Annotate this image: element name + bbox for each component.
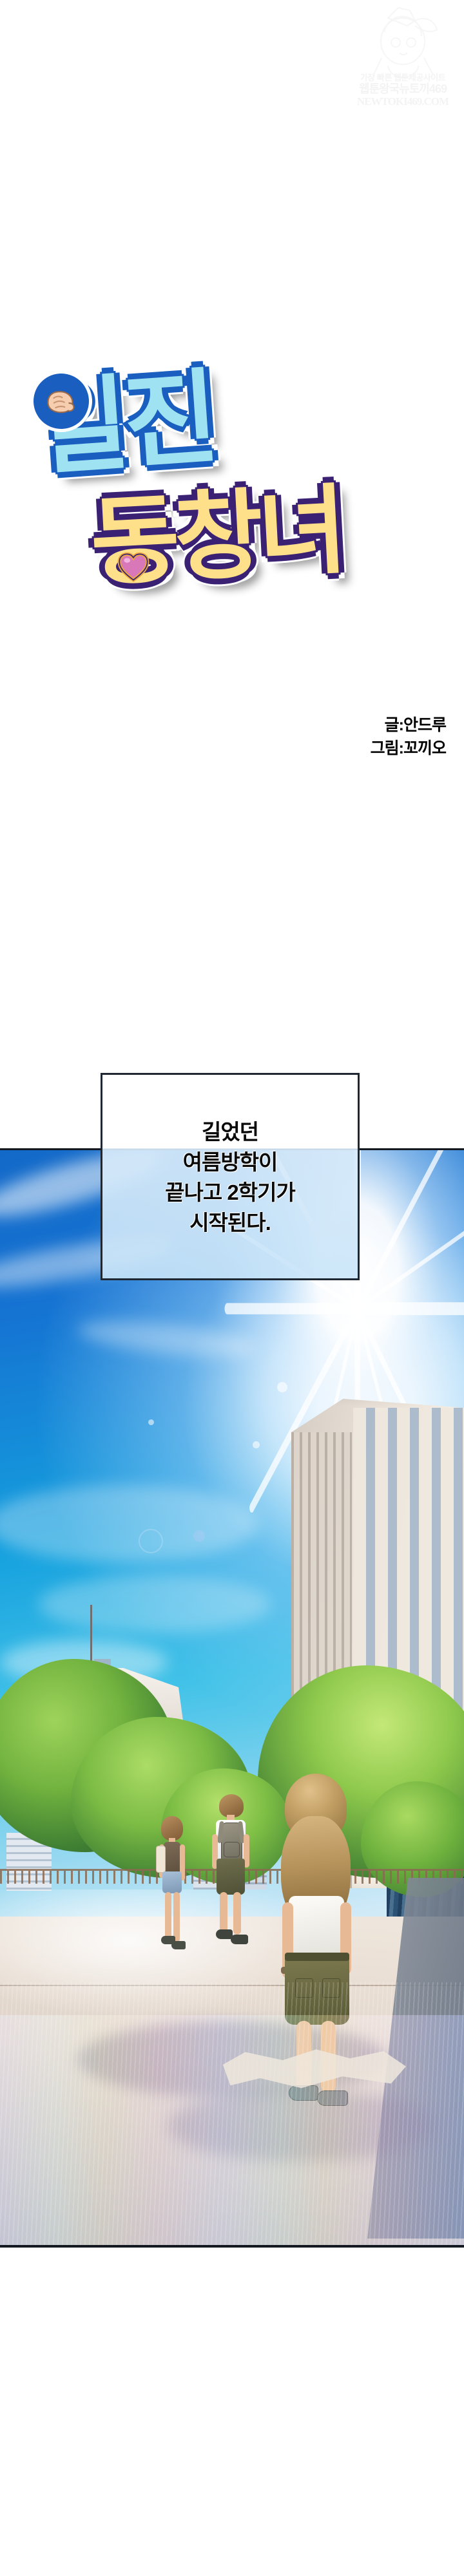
heart-icon — [115, 549, 152, 586]
tank-top — [164, 1842, 180, 1874]
caption-text: 길었던 여름방학이 끝나고 2학기가 시작된다. — [102, 1117, 358, 1238]
watermark-line-1: 가장 빠른 웹툰제공사이트 — [348, 73, 458, 82]
shoe-left — [216, 1929, 233, 1939]
watermark-line-2: 웹툰왕국뉴토끼469 — [348, 83, 458, 95]
hair — [219, 1794, 244, 1817]
white-top — [289, 1896, 344, 1958]
rainbow-lens-flare-icon — [0, 2015, 464, 2245]
school-building-antenna — [90, 1605, 92, 1667]
denim-shorts — [162, 1871, 182, 1893]
caption-line-2: 여름방학이 — [102, 1148, 358, 1178]
khaki-shorts — [217, 1859, 245, 1895]
caption-line-4: 시작된다. — [102, 1208, 358, 1238]
caption-line-1: 길었던 — [102, 1117, 358, 1148]
caption-box: 길었던 여름방학이 끝나고 2학기가 시작된다. — [101, 1073, 360, 1280]
shoe-right — [231, 1935, 248, 1944]
watermark-line-3: NEWTOKI469.COM — [348, 96, 458, 108]
credit-artist: 그림:꼬끼오 — [371, 737, 446, 760]
leg-left — [220, 1892, 227, 1932]
site-watermark: 가장 빠른 웹툰제공사이트 웹툰왕국뉴토끼469 NEWTOKI469.COM — [348, 4, 458, 133]
shoe-right — [171, 1941, 186, 1949]
mascot-girl-icon — [348, 4, 458, 94]
title-logo: 일진 동창녀 — [0, 322, 361, 683]
hair — [161, 1816, 183, 1841]
leg-left — [165, 1892, 171, 1938]
credits: 글:안드루 그림:꼬끼오 — [371, 714, 446, 761]
girl-short-hair — [152, 1816, 192, 1977]
boy-with-backpack — [205, 1794, 256, 1981]
credit-writer: 글:안드루 — [371, 714, 446, 737]
comic-panel-street-scene — [0, 1148, 464, 2248]
skirt-belt — [285, 1953, 349, 1961]
leg-right — [233, 1892, 241, 1935]
caption-line-3: 끝나고 2학기가 — [102, 1178, 358, 1208]
leg-right — [173, 1892, 180, 1942]
shoulder-bag — [156, 1846, 166, 1873]
backpack-pocket — [224, 1842, 240, 1857]
